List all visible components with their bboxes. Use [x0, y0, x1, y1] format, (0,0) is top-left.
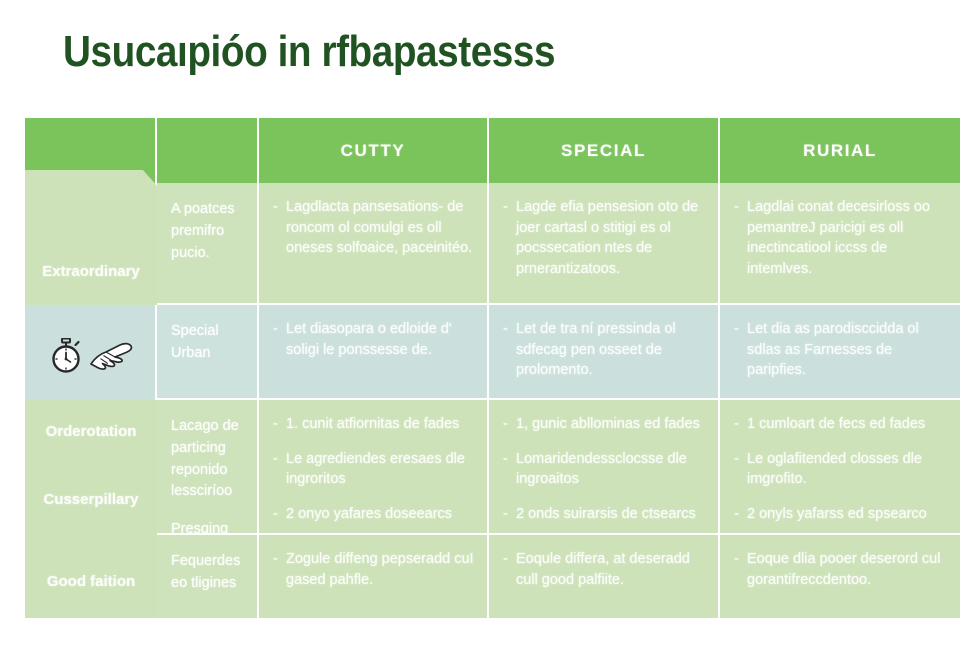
- table-header-cutty[interactable]: CUTTY: [259, 118, 489, 183]
- list-item: Let de tra ní pressinda ol sdfecag pen o…: [503, 319, 706, 381]
- list-item: Lagdlacta pansesations- de roncom ol com…: [273, 197, 475, 259]
- stopwatch-icon: [49, 338, 83, 374]
- subcategory-line: Presging: [171, 519, 245, 535]
- row-orderotation-subcategory: Lacago de particing reponido lessciríoo …: [157, 400, 259, 535]
- row-good-faition-subcategory: Fequerdes eo tligines: [157, 535, 259, 618]
- row-good-faition-special: Eoqule differa, at deseradd cull good pa…: [489, 535, 720, 618]
- row-special-urban-rurial: Let dia as parodisccidda ol sdlas as Far…: [720, 305, 960, 400]
- row-label-orderotation: Orderotation: [25, 423, 157, 440]
- row-extraordinary-subcategory: A poatces premifro pucio.: [157, 183, 259, 305]
- list-item: Lomaridendessclocsse dle ingroaitos: [503, 449, 706, 490]
- subcategory-line: Lacago de particing reponido lessciríoo: [171, 416, 245, 503]
- row-extraordinary-cutty: Lagdlacta pansesations- de roncom ol com…: [259, 183, 489, 305]
- list-item: Eoqule differa, at deseradd cull good pa…: [503, 549, 706, 590]
- list-item: Lagde efia pensesion oto de joer cartasl…: [503, 197, 706, 279]
- list-item: 1, gunic abllominas ed fades: [503, 414, 706, 435]
- list-item: 1 cumloart de fecs ed fades: [734, 414, 948, 435]
- row-label-good-faition: Good faition: [25, 573, 157, 590]
- icon-cluster: [49, 330, 145, 382]
- table-header-subcategory: [157, 118, 259, 183]
- row-label-cusserpillary: Cusserpillary: [25, 491, 157, 508]
- row-orderotation-cutty: 1. cunit atfiornitas de fades Le agredie…: [259, 400, 489, 535]
- row-special-urban-subcategory: Special Urban: [157, 305, 259, 400]
- list-item: Let dia as parodisccidda ol sdlas as Far…: [734, 319, 948, 381]
- row-orderotation-rurial: 1 cumloart de fecs ed fades Le oglafiten…: [720, 400, 960, 535]
- row-special-urban-cutty: Let diasopara o edloide d' soligi le pon…: [259, 305, 489, 400]
- list-item: Lagdlai conat decesirloss oo pemantreJ p…: [734, 197, 948, 279]
- page-title: Usucaıpióo in rfbapastesss: [63, 28, 820, 76]
- list-item: Let diasopara o edloide d' soligi le pon…: [273, 319, 475, 360]
- row-extraordinary-rurial: Lagdlai conat decesirloss oo pemantreJ p…: [720, 183, 960, 305]
- list-item: Eoque dlia pooer deserord cul gorantifre…: [734, 549, 948, 590]
- row-extraordinary-special: Lagde efia pensesion oto de joer cartasl…: [489, 183, 720, 305]
- row-good-faition-cutty: Zogule diffeng pepseradd cuI gased pahfl…: [259, 535, 489, 618]
- list-item: 2 onyls yafarss ed spsearco: [734, 504, 948, 525]
- hand-icon: [89, 339, 133, 373]
- row-label-extraordinary: Extraordinary: [25, 263, 157, 280]
- list-item: Zogule diffeng pepseradd cuI gased pahfl…: [273, 549, 475, 590]
- comparison-table: CUTTY SPECIAL RURIAL: [25, 118, 960, 618]
- row-special-urban-special: Let de tra ní pressinda ol sdfecag pen o…: [489, 305, 720, 400]
- list-item: 2 onyo yafares doseearcs: [273, 504, 475, 525]
- list-item: 1. cunit atfiornitas de fades: [273, 414, 475, 435]
- row-orderotation-special: 1, gunic abllominas ed fades Lomaridende…: [489, 400, 720, 535]
- table-header-special[interactable]: SPECIAL: [489, 118, 720, 183]
- table-header-rurial[interactable]: RURIAL: [720, 118, 960, 183]
- list-item: 2 onds suirarsis de ctsearcs: [503, 504, 706, 525]
- list-item: Le oglafitended closses dle imgrofito.: [734, 449, 948, 490]
- row-good-faition-rurial: Eoque dlia pooer deserord cul gorantifre…: [720, 535, 960, 618]
- list-item: Le agrediendes eresaes dle ingroritos: [273, 449, 475, 490]
